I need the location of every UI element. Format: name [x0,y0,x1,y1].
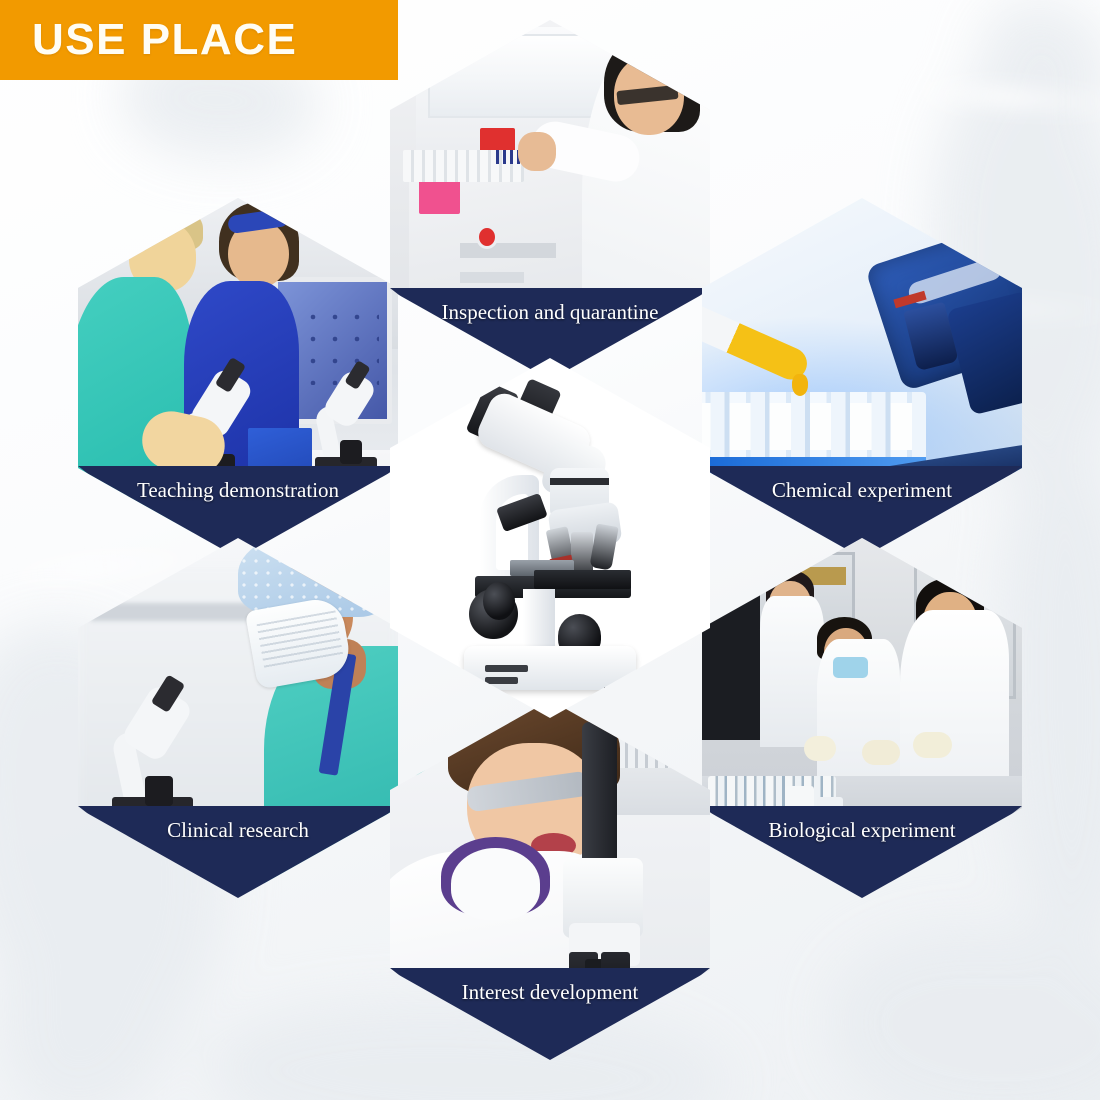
use-place-banner: USE PLACE [0,0,398,80]
hexagon-caption: Inspection and quarantine [442,288,659,323]
hexagon-caption: Biological experiment [768,806,955,841]
page-title: USE PLACE [0,18,297,62]
hexagon-caption: Chemical experiment [772,466,952,501]
hexagon-caption: Interest development [462,968,639,1003]
hexagon-caption: Teaching demonstration [137,466,339,501]
infographic-canvas: USE PLACE Teaching demonstration [0,0,1100,1100]
hexagon-caption: Clinical research [167,806,309,841]
microscope-illustration [416,380,685,697]
